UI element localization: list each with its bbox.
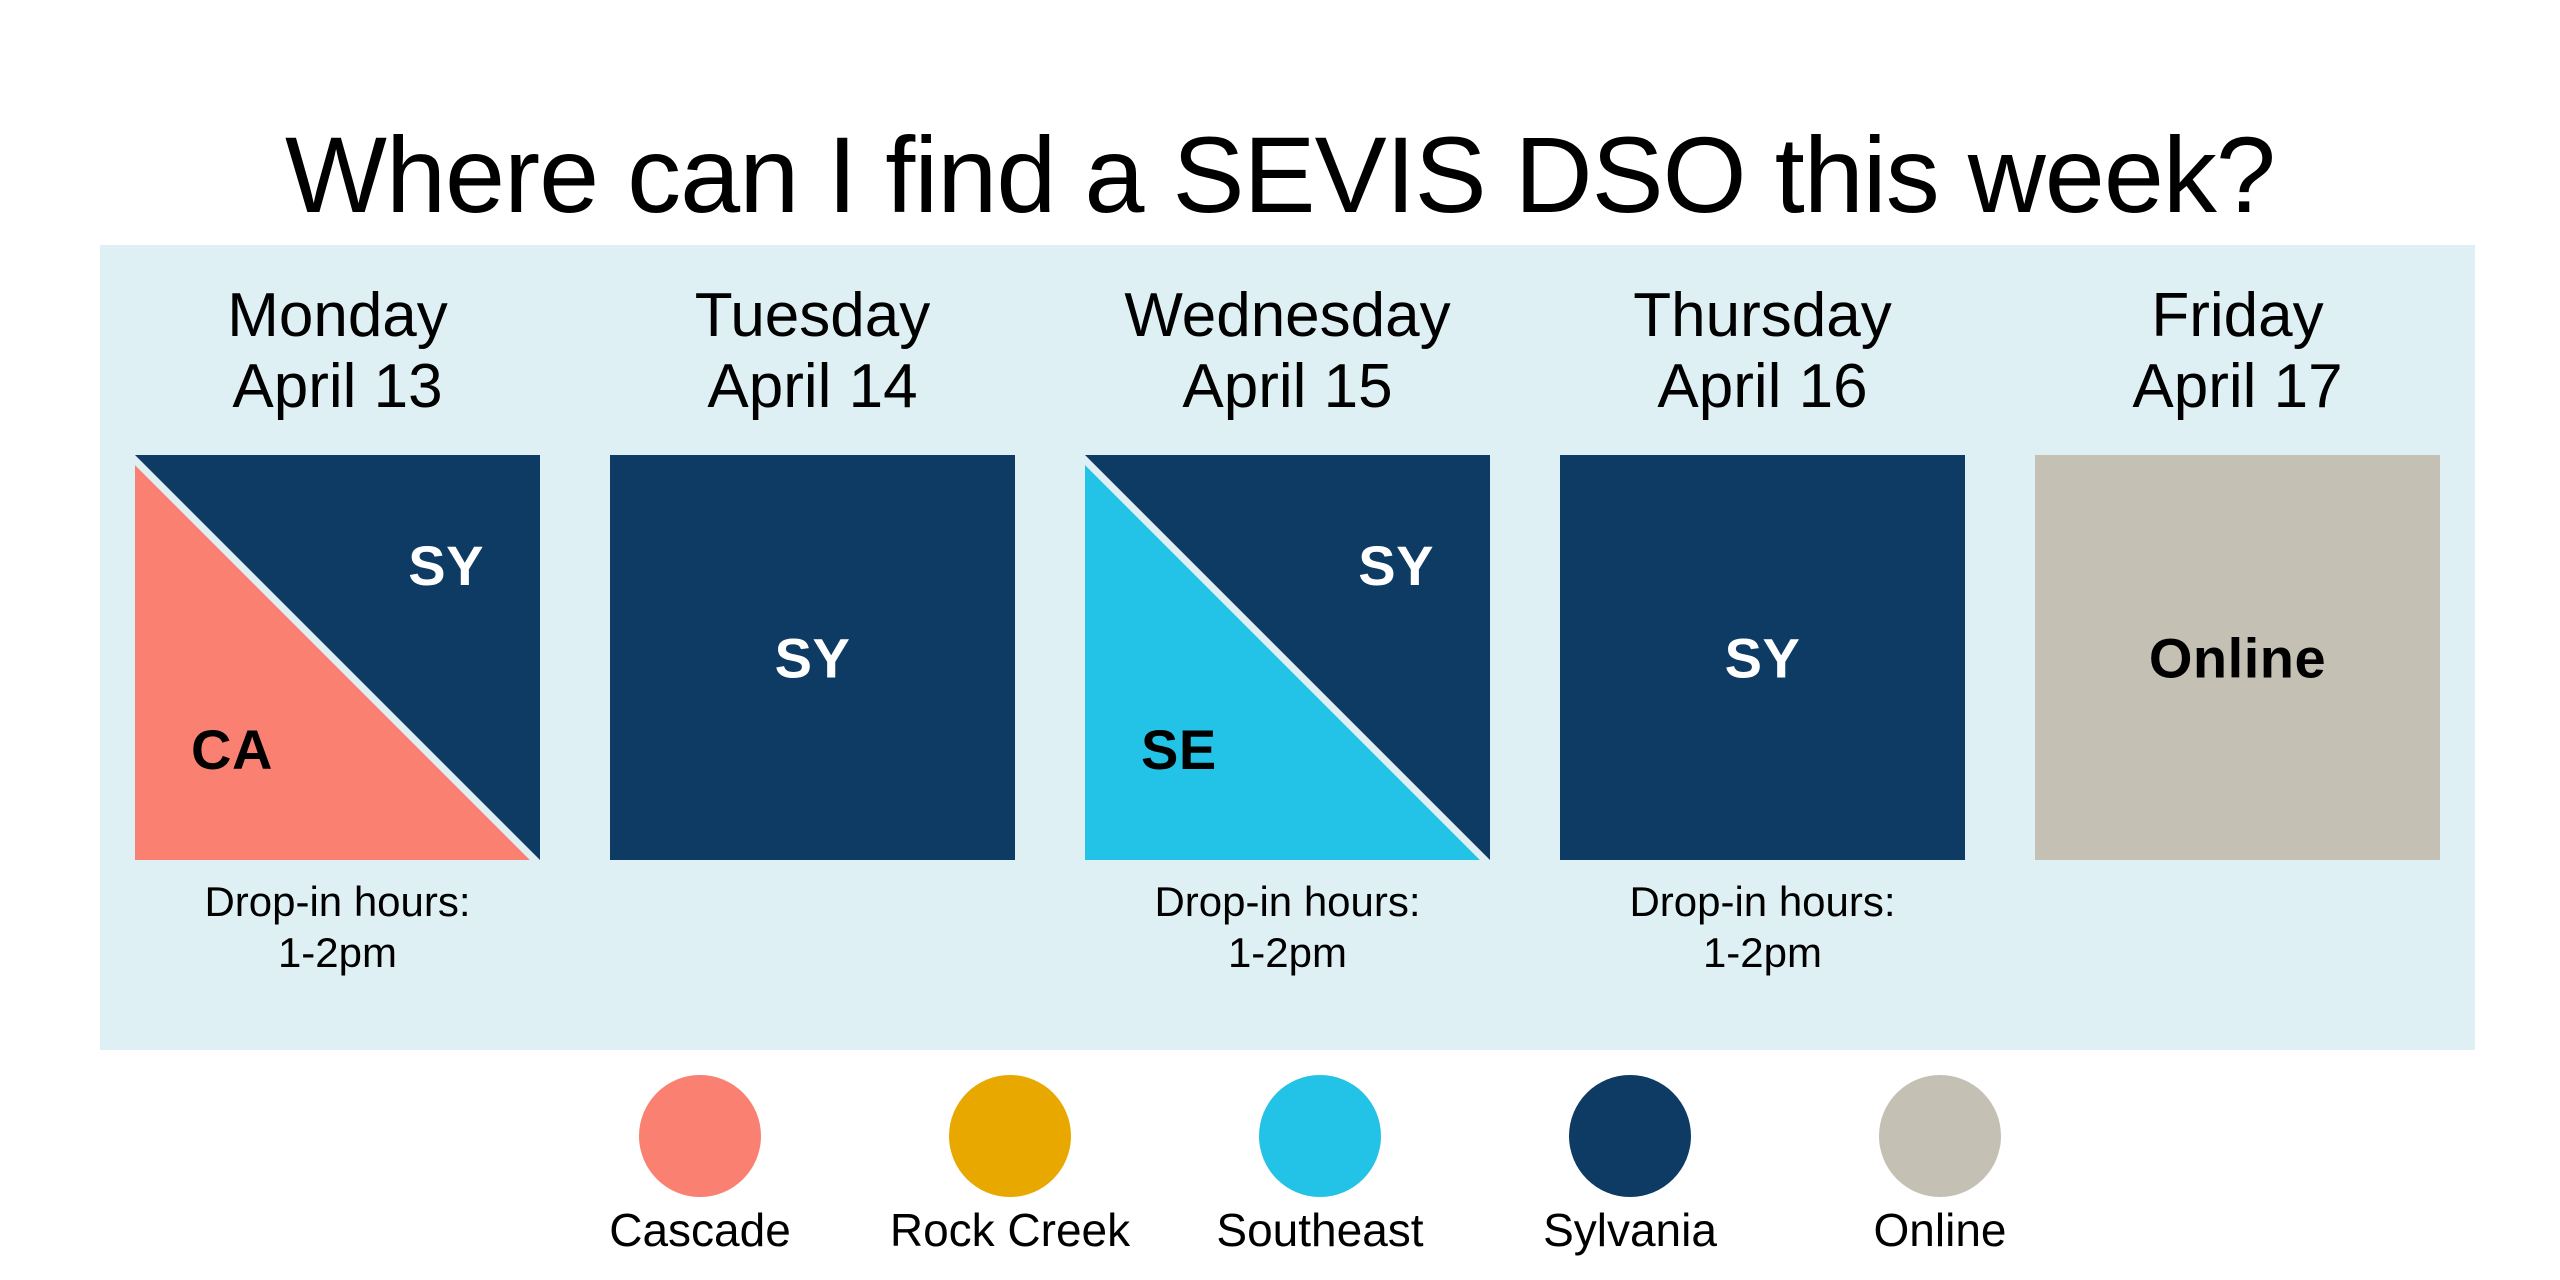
day-date: April 17: [2132, 354, 2342, 419]
day-columns: Monday April 13 SY CA Drop-in hours: 1-2…: [100, 245, 2475, 1050]
day-tile: SY SE: [1085, 455, 1490, 860]
tile-shape-icon: [1085, 455, 1490, 860]
drop-in-label: Drop-in hours:: [204, 878, 470, 925]
legend-item-online: Online: [1800, 1075, 2080, 1256]
tile-shape-icon: [135, 455, 540, 860]
drop-in-label: Drop-in hours:: [1154, 878, 1420, 925]
legend-item-rock-creek: Rock Creek: [870, 1075, 1150, 1256]
tile-lower-label: SE: [1141, 717, 1217, 782]
tile-lower-label: CA: [191, 717, 273, 782]
drop-in-note: Drop-in hours: 1-2pm: [1154, 876, 1420, 978]
page-title: Where can I find a SEVIS DSO this week?: [0, 112, 2560, 237]
drop-in-label: Drop-in hours:: [1629, 878, 1895, 925]
day-date: April 14: [707, 354, 917, 419]
day-date: April 15: [1182, 354, 1392, 419]
drop-in-note: Drop-in hours: 1-2pm: [1629, 876, 1895, 978]
legend-dot-icon: [639, 1075, 761, 1197]
day-column-tuesday: Tuesday April 14 SY: [575, 245, 1050, 1050]
legend-label: Rock Creek: [890, 1205, 1130, 1256]
legend-label: Southeast: [1216, 1205, 1423, 1256]
week-panel: Monday April 13 SY CA Drop-in hours: 1-2…: [100, 245, 2475, 1050]
legend-item-cascade: Cascade: [560, 1075, 840, 1256]
day-column-wednesday: Wednesday April 15 SY SE Drop-in hours: …: [1050, 245, 1525, 1050]
day-column-monday: Monday April 13 SY CA Drop-in hours: 1-2…: [100, 245, 575, 1050]
legend-item-southeast: Southeast: [1180, 1075, 1460, 1256]
drop-in-time: 1-2pm: [1154, 927, 1420, 978]
drop-in-time: 1-2pm: [204, 927, 470, 978]
day-column-friday: Friday April 17 Online: [2000, 245, 2475, 1050]
day-tile: SY: [1560, 455, 1965, 860]
day-name: Wednesday: [1124, 283, 1450, 348]
legend-label: Cascade: [609, 1205, 791, 1256]
legend-item-sylvania: Sylvania: [1490, 1075, 1770, 1256]
day-name: Tuesday: [695, 283, 931, 348]
tile-center-label: Online: [2035, 625, 2440, 690]
day-name: Thursday: [1633, 283, 1891, 348]
tile-center-label: SY: [1560, 625, 1965, 690]
legend-dot-icon: [1569, 1075, 1691, 1197]
day-date: April 13: [232, 354, 442, 419]
drop-in-time: 1-2pm: [1629, 927, 1895, 978]
day-tile: SY CA: [135, 455, 540, 860]
campus-legend: Cascade Rock Creek Southeast Sylvania On…: [560, 1075, 2080, 1256]
legend-dot-icon: [1879, 1075, 2001, 1197]
day-column-thursday: Thursday April 16 SY Drop-in hours: 1-2p…: [1525, 245, 2000, 1050]
legend-dot-icon: [1259, 1075, 1381, 1197]
day-name: Friday: [2151, 283, 2323, 348]
infographic-page: Where can I find a SEVIS DSO this week? …: [0, 0, 2560, 1280]
tile-center-label: SY: [610, 625, 1015, 690]
legend-label: Online: [1874, 1205, 2007, 1256]
day-tile: SY: [610, 455, 1015, 860]
tile-upper-label: SY: [408, 533, 484, 598]
legend-label: Sylvania: [1543, 1205, 1717, 1256]
day-date: April 16: [1657, 354, 1867, 419]
legend-dot-icon: [949, 1075, 1071, 1197]
day-name: Monday: [227, 283, 448, 348]
tile-split-diagonal: [1085, 455, 1490, 860]
tile-split-diagonal: [135, 455, 540, 860]
drop-in-note: Drop-in hours: 1-2pm: [204, 876, 470, 978]
tile-upper-label: SY: [1358, 533, 1434, 598]
day-tile: Online: [2035, 455, 2440, 860]
